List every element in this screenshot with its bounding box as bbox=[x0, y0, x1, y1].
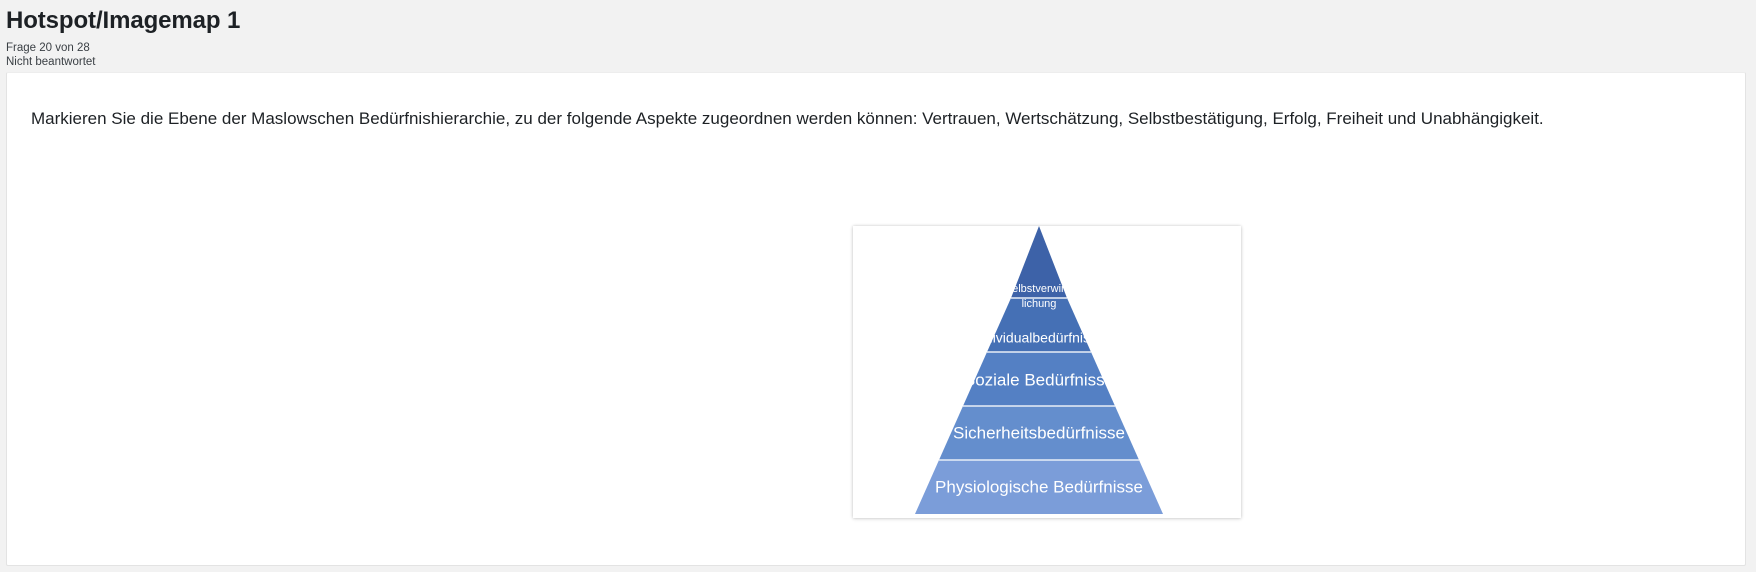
question-status: Nicht beantwortet bbox=[6, 56, 1756, 70]
page-title: Hotspot/Imagemap 1 bbox=[6, 6, 1756, 36]
question-meta: Frage 20 von 28 Nicht beantwortet bbox=[6, 42, 1756, 69]
question-text: Markieren Sie die Ebene der Maslowschen … bbox=[7, 73, 1745, 131]
maslow-pyramid-image[interactable]: Selbstverwirk lichung Individualbedürfni… bbox=[853, 226, 1241, 518]
pyramid-label-line-2: lichung bbox=[1022, 298, 1057, 310]
question-progress: Frage 20 von 28 bbox=[6, 42, 1756, 56]
question-header: Hotspot/Imagemap 1 Frage 20 von 28 Nicht… bbox=[0, 0, 1756, 72]
pyramid-label-line-1: Selbstverwirk bbox=[1005, 283, 1071, 295]
pyramid-label-individualbeduerfnisse: Individualbedürfnisse bbox=[973, 330, 1105, 346]
pyramid-label-soziale-beduerfnisse: Soziale Bedürfnisse bbox=[964, 370, 1114, 389]
pyramid-label-physiologische-beduerfnisse: Physiologische Bedürfnisse bbox=[935, 477, 1143, 496]
imagemap-figure[interactable]: Selbstverwirk lichung Individualbedürfni… bbox=[853, 226, 1241, 518]
question-card: Markieren Sie die Ebene der Maslowschen … bbox=[6, 72, 1746, 566]
pyramid-label-sicherheitsbeduerfnisse: Sicherheitsbedürfnisse bbox=[953, 423, 1125, 442]
